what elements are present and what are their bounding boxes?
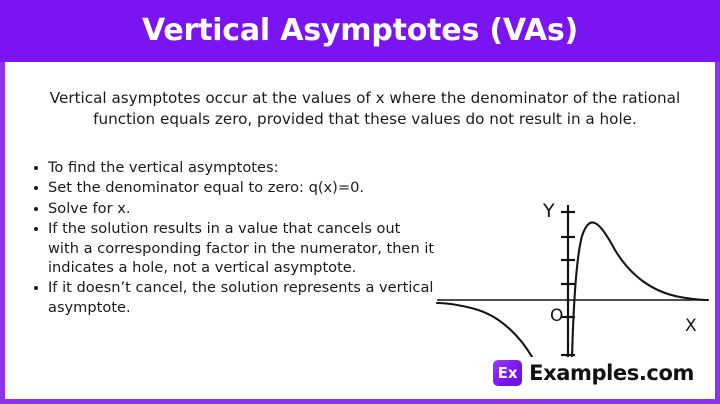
logo-text: Examples.com bbox=[529, 363, 694, 384]
page-title: Vertical Asymptotes (VAs) bbox=[142, 16, 578, 46]
origin-label: O bbox=[550, 306, 563, 326]
list-item: If it doesn’t cancel, the solution repre… bbox=[31, 278, 435, 317]
logo-mark-icon: Ex bbox=[493, 360, 522, 386]
y-axis-label: Y bbox=[542, 200, 555, 222]
x-axis-label: X bbox=[685, 316, 697, 336]
hyperbola-branch-positive bbox=[571, 222, 708, 357]
list-item: Set the denominator equal to zero: q(x)=… bbox=[31, 178, 435, 197]
hyperbola-graph: Y X O bbox=[430, 132, 715, 357]
brand-logo[interactable]: Ex Examples.com bbox=[493, 360, 694, 386]
list-item: Solve for x. bbox=[31, 199, 435, 218]
list-item: If the solution results in a value that … bbox=[31, 219, 435, 277]
slide: Vertical Asymptotes (VAs) Vertical asymp… bbox=[0, 0, 720, 404]
hyperbola-branch-negative bbox=[437, 303, 568, 357]
intro-paragraph: Vertical asymptotes occur at the values … bbox=[37, 88, 693, 129]
steps-list: To find the vertical asymptotes: Set the… bbox=[31, 158, 435, 318]
content-frame: Vertical asymptotes occur at the values … bbox=[0, 62, 720, 404]
list-item: To find the vertical asymptotes: bbox=[31, 158, 435, 177]
header-bar: Vertical Asymptotes (VAs) bbox=[0, 0, 720, 62]
